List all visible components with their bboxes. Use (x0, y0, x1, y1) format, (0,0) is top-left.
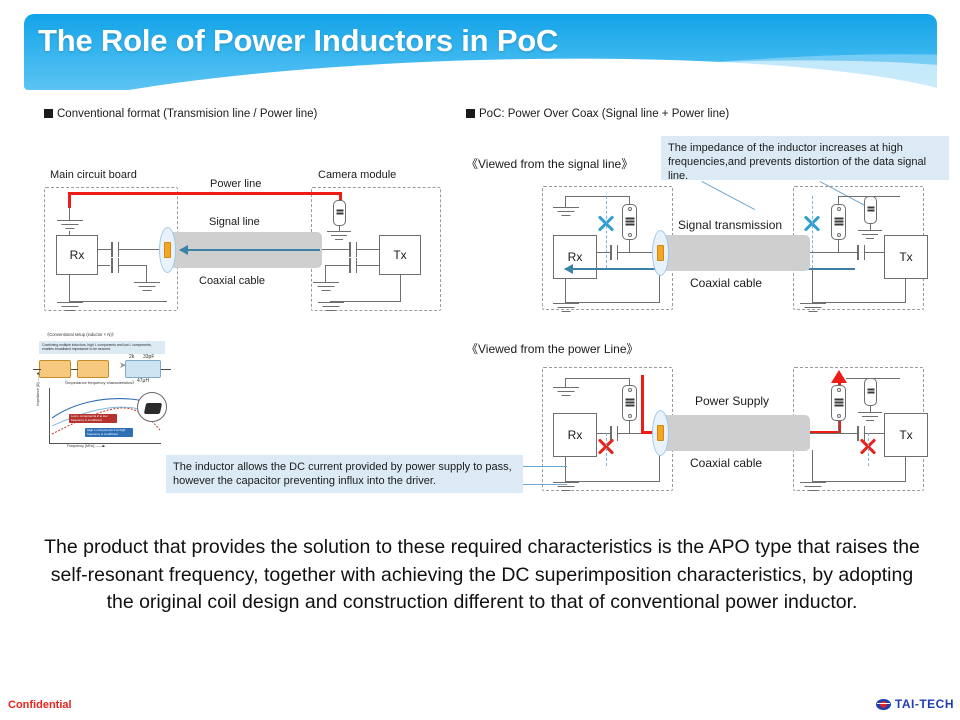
company-logo: TAI-TECH (876, 697, 954, 711)
poc2-rx-gnd-drop (565, 457, 566, 482)
label-coaxial-cable: Coaxial cable (690, 276, 762, 290)
poc2-tx-block: Tx (884, 413, 928, 457)
inductor-pad-bottom (628, 233, 632, 237)
label-coaxial-cable: Coaxial cable (690, 456, 762, 470)
label-power-line: Power line (210, 178, 261, 190)
thumb-val-47uh: 47μH (137, 378, 149, 384)
ground-symbol (553, 387, 579, 399)
ground-symbol (57, 302, 83, 314)
thumb-inductor-1 (39, 360, 71, 378)
thumb-inductor-2 (77, 360, 109, 378)
thumb-wire-a (33, 369, 41, 370)
inductor-package (622, 385, 637, 421)
poc2-tx-gnd-rail (812, 481, 906, 482)
thumb-val-33pf: 33pF (143, 354, 154, 360)
bullet-square-icon (466, 109, 475, 118)
poc-rx-gnd-drop (565, 279, 566, 303)
thumb-wire-b (71, 369, 78, 370)
confidential-label: Confidential (8, 699, 72, 711)
capacitor-symbol (111, 242, 119, 257)
power-line-wire-left-drop (68, 192, 71, 208)
coax-gold-contact (164, 242, 171, 258)
poc2-rx-dashed-path (606, 433, 607, 466)
coax-gold-contact (657, 245, 664, 261)
inductor-package (831, 385, 846, 421)
inductor-pad-top (628, 207, 632, 211)
view-from-signal-line-label: 《Viewed from the signal line》 (466, 155, 633, 172)
thumb-rlc-network (125, 360, 161, 378)
inductor-impedance-callout: The impedance of the inductor increases … (661, 136, 949, 180)
rx-bottom-rail (69, 301, 167, 302)
poc2-rx-sig-wire-a (597, 433, 611, 434)
poc2-rx-gnd-rail (565, 481, 660, 482)
rx-bottom-wire (69, 274, 70, 302)
inductor-coil-glyph (625, 217, 634, 228)
thumb-component-photo-circle (137, 392, 167, 422)
ground-symbol (858, 230, 882, 241)
callout-leader-a (523, 466, 567, 467)
tx-block: Tx (379, 235, 421, 275)
thumb-note: Combining multiple inductors, high L com… (39, 341, 165, 354)
label-signal-line: Signal line (209, 216, 260, 228)
inductor-coil-glyph (834, 398, 843, 409)
power-flow-arrowhead (831, 370, 847, 383)
rx-sig-wire-a (98, 249, 112, 250)
inductor-pad-bottom (837, 414, 841, 418)
inductor-pad-bottom (837, 233, 841, 237)
inductor-pad-top (628, 388, 632, 392)
cap-glyph (867, 388, 874, 397)
poc-rx-gnd-rail (565, 302, 660, 303)
tx-sig-wire-c (357, 265, 379, 266)
ground-symbol (553, 303, 579, 315)
poc-rx-ind-bottom-lead (629, 240, 630, 252)
poc2-tx-gnd-drop (905, 457, 906, 482)
inductor-pad-top (837, 207, 841, 211)
poc-rx-sig-wire-a (597, 252, 611, 253)
inductor-pad-bottom (628, 414, 632, 418)
capacitor-symbol (349, 242, 357, 257)
globe-icon (876, 699, 891, 710)
inductor-package (831, 204, 846, 240)
power-line-wire (68, 192, 342, 195)
ground-symbol (858, 412, 882, 423)
inductor-package (622, 204, 637, 240)
poc-tx-ind-bottom-lead (838, 240, 839, 252)
view-from-power-line-label: 《Viewed from the power Line》 (466, 340, 639, 357)
tx-sig-wire-a (322, 249, 350, 250)
tx-sig-wire-b (357, 249, 379, 250)
rx-top-wire (69, 231, 70, 236)
thumb-title: 《Conventional setup (inductor × N)》 (45, 332, 116, 338)
capacitor-symbol (111, 258, 119, 273)
ground-symbol (553, 207, 579, 219)
capacitor-symbol (857, 245, 865, 260)
thumb-tag-low-l: Low L components Z at low frequency is i… (69, 414, 117, 423)
callout-leader-left (702, 181, 755, 210)
poc-tx-gnd-up (812, 268, 813, 303)
dc-current-callout: The inductor allows the DC current provi… (166, 455, 523, 493)
poc-tx-sig-wire-a (810, 252, 858, 253)
poc-rx-dashed-path (606, 196, 607, 268)
poc-rx-block: Rx (553, 235, 597, 279)
conventional-setup-thumbnail: 《Conventional setup (inductor × N)》 Comb… (33, 330, 173, 450)
rx-sig-wire-d (119, 265, 147, 266)
vertical-capacitor-package (333, 200, 346, 226)
poc2-rx-top-rail (565, 378, 629, 379)
poc-rx-top-rail (565, 196, 629, 197)
poc2-tx-dashed-path (868, 433, 869, 466)
signal-direction-arrow (180, 249, 320, 251)
thumb-tag-high-l: High L components Z at high frequency is… (85, 428, 133, 437)
coax-gold-contact (657, 425, 664, 441)
poc-tx-gnd-drop (905, 279, 906, 303)
poc-tx-sig-wire-b (865, 252, 885, 253)
thumb-val-2k: 2k (129, 354, 134, 360)
label-power-supply: Power Supply (695, 394, 769, 408)
ground-symbol (318, 302, 344, 314)
ground-symbol (327, 231, 351, 242)
label-coaxial-cable: Coaxial cable (199, 275, 265, 287)
vertical-capacitor-package (864, 196, 877, 224)
cap-glyph (336, 209, 343, 218)
callout-leader-b (523, 484, 567, 485)
thumb-wire-c (161, 369, 171, 370)
label-main-circuit-board: Main circuit board (50, 169, 137, 181)
vertical-capacitor-package (864, 378, 877, 406)
thumb-graph-title: 《Impedance frequency characteristics》 (63, 380, 136, 386)
rx-supply-wire (69, 207, 70, 221)
label-camera-module: Camera module (318, 169, 396, 181)
poc2-tx-ind-bottom-lead (838, 421, 839, 433)
poc-tx-gnd-rail (812, 302, 906, 303)
title-banner: The Role of Power Inductors in PoC (24, 14, 937, 90)
tx-bottom-drop (400, 274, 401, 301)
ground-symbol (800, 482, 826, 494)
label-signal-transmission: Signal transmission (678, 218, 782, 232)
poc2-tx-sig-wire-a (810, 433, 858, 434)
thumb-equivalence-arrow-icon: ➤ (119, 360, 127, 371)
ground-symbol (57, 220, 83, 232)
power-supply-wire-left (641, 375, 644, 433)
thumb-x-axis-label: Frequency [MHz] ——▶ (67, 444, 105, 448)
rx-sig-wire-c (98, 265, 110, 266)
ground-symbol (134, 282, 160, 294)
rx-cap-drop (146, 265, 147, 283)
rx-block: Rx (56, 235, 98, 275)
left-panel-heading: Conventional format (Transmision line / … (44, 108, 317, 120)
poc-tx-dashed-path (812, 196, 813, 268)
tx-cap-drop (325, 265, 326, 283)
body-paragraph: The product that provides the solution t… (44, 534, 920, 617)
inductor-coil-glyph (834, 217, 843, 228)
tx-sig-wire-d (325, 265, 350, 266)
poc2-rx-block: Rx (553, 413, 597, 457)
page-title: The Role of Power Inductors in PoC (38, 23, 558, 59)
coaxial-cable-tube (660, 235, 810, 271)
brand-name: TAI-TECH (895, 697, 954, 711)
right-panel-heading: PoC: Power Over Coax (Signal line + Powe… (466, 108, 729, 120)
thumb-chip-body (144, 403, 162, 414)
poc2-rx-ind-bottom-lead (629, 421, 630, 433)
bullet-square-icon (44, 109, 53, 118)
inductor-coil-glyph (625, 398, 634, 409)
poc2-tx-gnd-up (812, 450, 813, 482)
ground-symbol (313, 282, 339, 294)
inductor-pad-top (837, 388, 841, 392)
poc-tx-block: Tx (884, 235, 928, 279)
coaxial-cable-tube (660, 415, 810, 451)
capacitor-symbol (610, 245, 618, 260)
capacitor-symbol (349, 258, 357, 273)
ground-symbol (800, 303, 826, 315)
cap-glyph (867, 206, 874, 215)
thumb-y-axis-label: Impedance [Ω] ——▶ (36, 372, 40, 406)
